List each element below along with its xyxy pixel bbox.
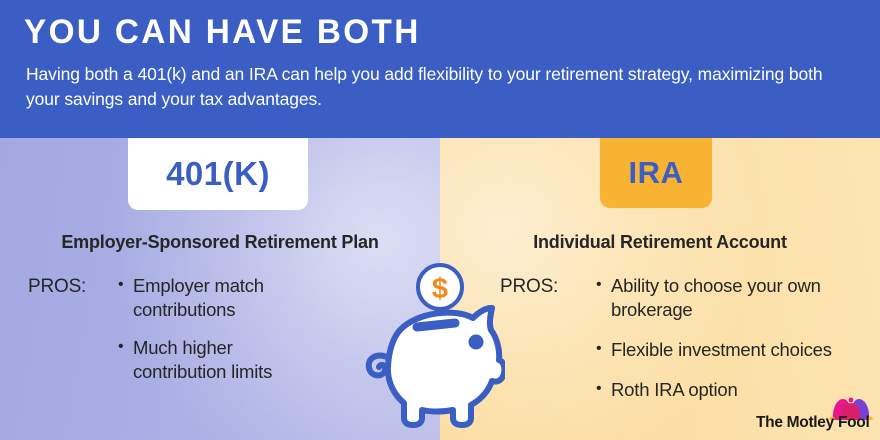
- motley-fool-logo: The Motley Fool: [756, 396, 874, 432]
- list-item: Employer match contributions: [118, 274, 328, 322]
- subhead-401k: Employer-Sponsored Retirement Plan: [0, 232, 440, 258]
- header-banner: YOU CAN HAVE BOTH Having both a 401(k) a…: [0, 0, 880, 138]
- list-item: Much higher contribution limits: [118, 336, 328, 384]
- logo-wordmark: The Motley Fool: [756, 414, 869, 432]
- page-title: YOU CAN HAVE BOTH: [24, 12, 421, 52]
- list-item: Ability to choose your own brokerage: [596, 274, 865, 322]
- pros-list-401k: Employer match contributions Much higher…: [118, 274, 328, 384]
- badge-ira: IRA: [600, 138, 712, 208]
- subhead-ira: Individual Retirement Account: [440, 232, 880, 258]
- list-item: Flexible investment choices: [596, 338, 865, 362]
- pros-block-401k: PROS: Employer match contributions Much …: [28, 274, 328, 384]
- pros-label-401k: PROS:: [28, 274, 118, 299]
- infographic-canvas: YOU CAN HAVE BOTH Having both a 401(k) a…: [0, 0, 880, 440]
- header-subtitle: Having both a 401(k) and an IRA can help…: [26, 62, 838, 112]
- badge-401k: 401(K): [128, 138, 308, 210]
- pros-label-ira: PROS:: [500, 274, 596, 299]
